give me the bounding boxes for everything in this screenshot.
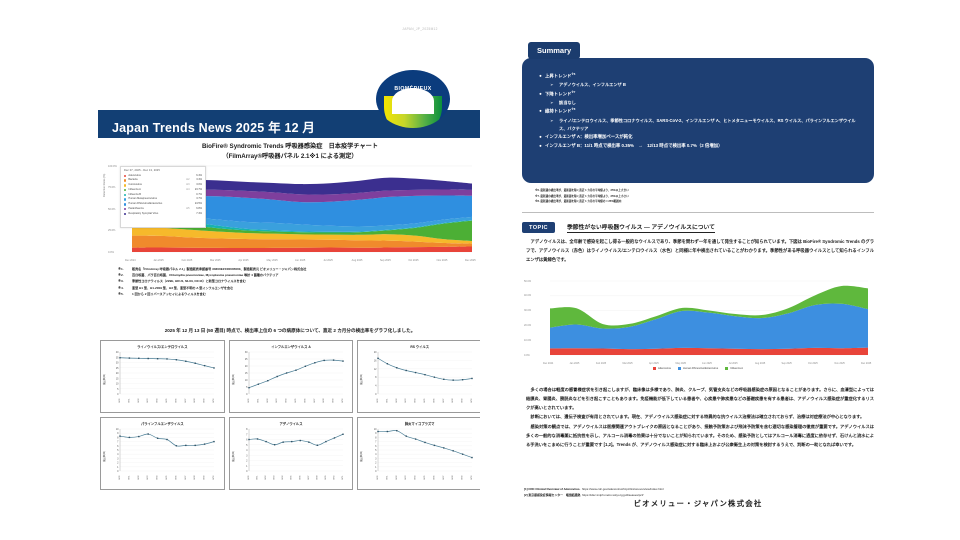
summary-bullet-icon: ● <box>536 133 545 142</box>
topic-xtick: Oct 2025 <box>808 362 818 365</box>
sub-note: 2025 年 12 月 13 日 (50 週目) 時点で、検出率上位の 6 つの… <box>98 328 482 334</box>
xtick: Feb 2025 <box>182 259 193 262</box>
svg-text:W43: W43 <box>276 398 278 403</box>
summary-item-text: アデノウイルス、インフルエンザ B <box>559 81 626 89</box>
svg-text:W48: W48 <box>452 475 454 480</box>
svg-text:W40: W40 <box>248 398 250 403</box>
mini-chart-plot: 051015202530W40W41W42W43W44W45W46W47W48W… <box>236 349 346 403</box>
ytick: 75.0% <box>108 186 115 189</box>
svg-text:W48: W48 <box>323 398 325 403</box>
svg-text:W42: W42 <box>138 475 140 480</box>
xtick: Sep 2025 <box>380 259 391 262</box>
mini-chart-panel-1: ライノウイルス/エンテロウイルス検出率(%)0510152025303540W4… <box>100 340 225 413</box>
xtick: Dec 2024 <box>125 259 136 262</box>
svg-text:W40: W40 <box>377 398 379 403</box>
svg-text:10: 10 <box>245 379 248 382</box>
svg-text:W40: W40 <box>119 475 121 480</box>
svg-text:W41: W41 <box>129 475 131 480</box>
svg-text:W43: W43 <box>148 475 150 480</box>
svg-text:W47: W47 <box>314 398 316 403</box>
topic-ytick: 20.0% <box>524 324 531 327</box>
summary-item: ➢ライノ/エンテロウイルス、季節性コロナウイルス、SARS-CoV-2、インフル… <box>536 117 860 134</box>
left-footnotes: ※1.販売名「FilmArray 呼吸器パネル 2.1」製造販売承認番号 303… <box>118 266 448 297</box>
svg-text:0: 0 <box>246 470 248 473</box>
svg-text:20: 20 <box>245 365 248 368</box>
legend-swatch <box>124 175 126 177</box>
legend-swatch <box>124 184 126 186</box>
mini-chart-plot: 012345678W40W41W42W43W44W45W46W47W48W49W… <box>236 426 346 480</box>
svg-text:W45: W45 <box>166 475 168 480</box>
page-title: Japan Trends News 2025 年 12 月 <box>112 117 315 136</box>
svg-text:5: 5 <box>117 388 119 391</box>
reference-url[interactable]: https://idsc.tmiph.metro.tokyo.lg.jp/dis… <box>582 493 643 497</box>
legend-value: 7.4% <box>193 212 202 217</box>
body-paragraph: 診断においては、遺伝子検査が有用とされています。現在、アデノウイルス感染症に対す… <box>526 413 874 422</box>
reference-url[interactable]: https://www.cdc.gov/adenovirus/hcp/clini… <box>582 487 664 491</box>
mini-chart-ylabel: 検出率(%) <box>102 374 106 385</box>
svg-text:W44: W44 <box>157 475 159 480</box>
summary-item: ➢該当なし <box>536 99 860 107</box>
references-list: [1] CDC Clinical Overview of Adenovirus.… <box>524 486 874 498</box>
svg-text:W48: W48 <box>195 475 197 480</box>
svg-text:W43: W43 <box>148 398 150 403</box>
svg-text:W43: W43 <box>274 475 276 480</box>
svg-text:40: 40 <box>116 351 119 354</box>
svg-text:W41: W41 <box>129 398 131 403</box>
svg-text:W48: W48 <box>195 398 197 403</box>
svg-text:0: 0 <box>375 393 377 396</box>
main-chart-title-line1: BioFire® Syndromic Trends 呼吸器感染症 日本疫学チャー… <box>98 142 482 152</box>
legend-label: Respiratory Syncytial Virus <box>128 212 186 217</box>
svg-text:W47: W47 <box>442 398 444 403</box>
svg-text:W41: W41 <box>257 475 259 480</box>
svg-text:6: 6 <box>117 445 119 448</box>
svg-text:4: 4 <box>375 453 377 456</box>
svg-text:W45: W45 <box>424 398 426 403</box>
summary-item-sup: ※8 <box>571 108 575 111</box>
svg-text:W42: W42 <box>138 398 140 403</box>
xtick: Aug 2025 <box>352 259 363 262</box>
svg-text:W46: W46 <box>176 398 178 403</box>
svg-text:5: 5 <box>117 449 119 452</box>
summary-item: ●下降トレンド※7 <box>536 90 860 99</box>
svg-text:6: 6 <box>375 445 377 448</box>
legend-swatch <box>124 213 126 215</box>
svg-text:W49: W49 <box>333 398 335 403</box>
svg-text:W49: W49 <box>325 475 327 480</box>
xtick: Nov 2025 <box>437 259 448 262</box>
legend-item: Respiratory Syncytial Virus7.4% <box>124 212 202 217</box>
mini-chart-ylabel: 検出率(%) <box>231 374 235 385</box>
summary-bullet-icon: ● <box>536 142 545 151</box>
svg-text:W47: W47 <box>308 475 310 480</box>
svg-text:W45: W45 <box>291 475 293 480</box>
svg-text:15: 15 <box>116 377 119 380</box>
summary-bullet-icon: ● <box>536 107 545 116</box>
svg-text:0: 0 <box>117 393 119 396</box>
summary-footnote: ※8. 最新週の検出率が、最新週を除く直近 1 カ月の平均値の ± 25%範囲内 <box>535 199 865 205</box>
topic-legend-item: Adenovirus <box>653 367 671 370</box>
xtick: Apr 2025 <box>238 259 248 262</box>
logo-wordmark: BIOMÉRIEUX <box>376 86 450 92</box>
svg-text:2: 2 <box>117 462 119 465</box>
svg-text:W44: W44 <box>414 475 416 480</box>
svg-text:20: 20 <box>373 351 376 354</box>
summary-bullet-icon: ● <box>536 90 545 99</box>
topic-legend-label: Adenovirus <box>658 367 671 370</box>
topic-xtick: Aug 2025 <box>755 362 765 365</box>
mini-chart-plot: 012345678910W40W41W42W43W44W45W46W47W48W… <box>107 426 217 480</box>
svg-text:W50: W50 <box>333 475 335 480</box>
topic-legend-label: Human Rhinovirus/Enterovirus <box>683 367 718 370</box>
svg-text:1: 1 <box>246 465 248 468</box>
xtick: Oct 2025 <box>408 259 418 262</box>
svg-text:W47: W47 <box>185 475 187 480</box>
svg-text:W49: W49 <box>204 475 206 480</box>
summary-item: ●上昇トレンド※6 <box>536 72 860 81</box>
svg-text:W42: W42 <box>265 475 267 480</box>
svg-text:W40: W40 <box>248 475 250 480</box>
topic-legend-item: Influenza A <box>725 367 743 370</box>
svg-text:7: 7 <box>375 441 377 444</box>
svg-text:25: 25 <box>245 358 248 361</box>
svg-text:W40: W40 <box>377 475 379 480</box>
left-page: JAPAN_JP_2025M12 BIOMÉRIEUX Japan Trends… <box>0 0 480 540</box>
svg-text:5: 5 <box>375 449 377 452</box>
legend-swatch <box>124 194 126 196</box>
topic-chart-plot <box>524 278 872 362</box>
watermark-left: JAPAN_JP_2025M12 <box>360 27 480 31</box>
topic-ytick: 40.0% <box>524 294 531 297</box>
footnote-number: ※5. <box>118 291 132 297</box>
svg-text:30: 30 <box>245 351 248 354</box>
svg-text:W47: W47 <box>442 475 444 480</box>
legend-swatch <box>124 189 126 191</box>
topic-chart-legend: AdenovirusHuman Rhinovirus/EnterovirusIn… <box>524 367 872 370</box>
ytick: 50.0% <box>108 208 115 211</box>
svg-text:W43: W43 <box>405 475 407 480</box>
topic-xtick: Jul 2025 <box>729 362 738 365</box>
svg-text:3: 3 <box>117 457 119 460</box>
svg-text:8: 8 <box>375 436 377 439</box>
mini-chart-panel-4: パラインフルエンザウイルス検出率(%)012345678910W40W41W42… <box>100 417 225 490</box>
svg-text:W41: W41 <box>386 475 388 480</box>
legend-swatch <box>124 179 126 181</box>
topic-xtick: Dec 2024 <box>543 362 553 365</box>
topic-header-row: TOPIC 季節性がない呼吸器ウイルス ― アデノウイルスについて <box>522 222 715 233</box>
biomerieux-logo: BIOMÉRIEUX <box>376 70 456 128</box>
svg-text:W46: W46 <box>433 398 435 403</box>
body-paragraph: 多くの場合は軽度の感冒様症状を引き起こしますが、臨床像は多様であり、肺炎、クルー… <box>526 386 874 412</box>
topic-stacked-area-chart: 0.0%10.0%20.0%30.0%40.0%50.0% Dec 2024Ja… <box>524 278 872 376</box>
svg-text:5: 5 <box>246 386 248 389</box>
company-name: ビオメリュー・ジャパン株式会社 <box>522 498 874 509</box>
summary-item-text: 下降トレンド※7 <box>545 90 575 99</box>
topic-legend-label: Influenza A <box>730 367 743 370</box>
svg-text:W48: W48 <box>316 475 318 480</box>
svg-text:W49: W49 <box>461 475 463 480</box>
footnote-text: 1 回から 2 回リバースアッセイによるウイルスを含む <box>132 291 206 297</box>
topic-legend-swatch <box>653 367 656 370</box>
svg-text:4: 4 <box>117 453 119 456</box>
svg-text:W50: W50 <box>471 475 473 480</box>
mini-chart-panel-6: 肺炎マイコプラズマ検出率(%)012345678910W40W41W42W43W… <box>357 417 482 490</box>
xtick: Jun 2025 <box>295 259 305 262</box>
xtick: Jul 2025 <box>323 259 332 262</box>
legend-note: ※4 <box>186 188 193 193</box>
svg-text:W47: W47 <box>185 398 187 403</box>
svg-text:W46: W46 <box>433 475 435 480</box>
xtick: Jan 2025 <box>153 259 163 262</box>
summary-item-text: 上昇トレンド※6 <box>545 72 575 81</box>
ytick: 100.0% <box>108 165 117 168</box>
logo-circle <box>376 70 450 128</box>
summary-item-sup: ※7 <box>571 91 575 94</box>
svg-text:3: 3 <box>246 454 248 457</box>
svg-text:6: 6 <box>246 439 248 442</box>
legend-note: ※5 <box>186 207 193 212</box>
summary-bullet-icon: ➢ <box>550 81 559 89</box>
mini-chart-ylabel: 検出率(%) <box>359 374 363 385</box>
mini-chart-plot: 0510152025303540W40W41W42W43W44W45W46W47… <box>107 349 217 403</box>
summary-bullet-icon: ● <box>536 72 545 81</box>
topic-xtick: Sep 2025 <box>782 362 792 365</box>
topic-xtick: Mar 2025 <box>623 362 633 365</box>
svg-text:W42: W42 <box>395 398 397 403</box>
ytick: 25.0% <box>108 229 115 232</box>
mini-chart-ylabel: 検出率(%) <box>359 451 363 462</box>
topic-xtick: May 2025 <box>676 362 687 365</box>
mini-chart-plot: 048121620W40W41W42W43W44W45W46W47W48W49W… <box>365 349 475 403</box>
svg-text:16: 16 <box>373 359 376 362</box>
legend-swatch <box>124 198 126 200</box>
svg-text:W50: W50 <box>342 398 344 403</box>
svg-text:2: 2 <box>246 460 248 463</box>
svg-text:W46: W46 <box>304 398 306 403</box>
svg-text:8: 8 <box>117 436 119 439</box>
main-chart-title-line2: （FilmArray®呼吸器パネル 2.1※1 による測定） <box>98 152 482 162</box>
svg-text:1: 1 <box>375 466 377 469</box>
summary-bullet-icon: ➢ <box>550 99 559 107</box>
topic-xtick: Dec 2025 <box>861 362 871 365</box>
topic-xtick: Jun 2025 <box>702 362 712 365</box>
six-panel-chart-grid: ライノウイルス/エンテロウイルス検出率(%)0510152025303540W4… <box>100 340 482 490</box>
svg-text:W51: W51 <box>342 475 344 480</box>
svg-text:W45: W45 <box>424 475 426 480</box>
svg-text:W40: W40 <box>119 398 121 403</box>
svg-text:10: 10 <box>116 383 119 386</box>
svg-text:0: 0 <box>375 470 377 473</box>
svg-text:W46: W46 <box>176 475 178 480</box>
summary-item-text: インフルエンザ A：検出率増加ペースが鈍化 <box>545 133 632 142</box>
svg-text:W41: W41 <box>257 398 259 403</box>
svg-text:3: 3 <box>375 457 377 460</box>
svg-text:5: 5 <box>246 444 248 447</box>
svg-text:7: 7 <box>246 433 248 436</box>
summary-item: ●インフルエンザ B：11/1 時点で検出率 0.35% → 12/13 時点で… <box>536 142 860 151</box>
topic-xtick: Jan 2025 <box>570 362 580 365</box>
svg-text:30: 30 <box>116 362 119 365</box>
topic-area-series-adenovirus <box>550 348 868 355</box>
svg-text:35: 35 <box>116 356 119 359</box>
svg-text:2: 2 <box>375 462 377 465</box>
summary-item-text: インフルエンザ B：11/1 時点で検出率 0.35% → 12/13 時点で検… <box>545 142 723 151</box>
svg-text:10: 10 <box>116 428 119 431</box>
summary-item-text: ライノ/エンテロウイルス、季節性コロナウイルス、SARS-CoV-2、インフルエ… <box>559 117 860 134</box>
reference-label: 東京都感染症情報センター 咽頭結膜熱 <box>528 493 580 497</box>
svg-text:15: 15 <box>245 372 248 375</box>
main-chart-title: BioFire® Syndromic Trends 呼吸器感染症 日本疫学チャー… <box>98 142 482 161</box>
xtick: Mar 2025 <box>210 259 221 262</box>
topic-ytick: 0.0% <box>524 354 530 357</box>
reference-label: CDC Clinical Overview of Adenovirus. <box>528 487 580 491</box>
summary-item-sup: ※6 <box>571 73 575 76</box>
svg-text:W42: W42 <box>395 475 397 480</box>
svg-text:0: 0 <box>246 393 248 396</box>
ytick: 0.0% <box>108 251 114 254</box>
summary-tab: Summary <box>528 42 580 59</box>
svg-text:W50: W50 <box>471 398 473 403</box>
summary-item-text: 維持トレンド※8 <box>545 107 575 116</box>
svg-text:10: 10 <box>373 428 376 431</box>
mini-chart-panel-2: インフルエンザウイルス A検出率(%)051015202530W40W41W42… <box>229 340 354 413</box>
footnote-row: ※5.1 回から 2 回リバースアッセイによるウイルスを含む <box>118 291 448 297</box>
topic-heading: 季節性がない呼吸器ウイルス ― アデノウイルスについて <box>567 222 715 233</box>
summary-footnotes: ※6. 最新週の検出率が、最新週を除く直近 1 カ月の平均値より、25%以上大き… <box>535 188 865 205</box>
mini-chart-panel-5: アデノウイルス検出率(%)012345678W40W41W42W43W44W45… <box>229 417 354 490</box>
svg-text:12: 12 <box>373 368 376 371</box>
topic-ytick: 10.0% <box>524 339 531 342</box>
summary-item-text: 該当なし <box>559 99 576 107</box>
reference-number: [2] <box>524 493 528 497</box>
summary-item: ●維持トレンド※8 <box>536 107 860 116</box>
xtick: May 2025 <box>267 259 278 262</box>
legend-date-range: Dec 07, 2025 - Dec 13, 2025 <box>124 169 202 172</box>
topic-ytick: 50.0% <box>524 280 531 283</box>
summary-bullet-icon: ➢ <box>550 117 559 134</box>
topic-ytick: 30.0% <box>524 309 531 312</box>
svg-text:W44: W44 <box>157 398 159 403</box>
summary-box: ●上昇トレンド※6➢アデノウイルス、インフルエンザ B●下降トレンド※7➢該当な… <box>522 58 874 183</box>
topic-tag: TOPIC <box>522 222 555 233</box>
topic-xtick: Nov 2025 <box>835 362 845 365</box>
svg-text:W45: W45 <box>295 398 297 403</box>
svg-text:W49: W49 <box>461 398 463 403</box>
svg-text:9: 9 <box>117 432 119 435</box>
mini-chart-plot: 012345678910W40W41W42W43W44W45W46W47W48W… <box>365 426 475 480</box>
svg-text:W48: W48 <box>452 398 454 403</box>
topic-xtick: Feb 2025 <box>596 362 606 365</box>
svg-text:W42: W42 <box>267 398 269 403</box>
svg-text:W50: W50 <box>213 475 215 480</box>
svg-text:4: 4 <box>246 449 248 452</box>
svg-text:W50: W50 <box>213 398 215 403</box>
main-stacked-area-chart: Detection Rates (%) 0.0%25.0%50.0%75.0%1… <box>104 163 476 265</box>
svg-text:W41: W41 <box>386 398 388 403</box>
body-paragraph: 感染対策の観点では、アデノウイルスは医療関連アウトブレイクの原因となることがあり… <box>526 423 874 449</box>
summary-item: ➢アデノウイルス、インフルエンザ B <box>536 81 860 89</box>
topic-paragraph-text: アデノウイルスは、全年齢で感染を起こし得る一般的なウイルスであり、季節を問わず一… <box>526 238 874 264</box>
topic-xtick: Apr 2025 <box>649 362 659 365</box>
mini-chart-panel-3: RS ウイルス検出率(%)048121620W40W41W42W43W44W45… <box>357 340 482 413</box>
reference-number: [1] <box>524 487 528 491</box>
topic-legend-swatch <box>725 367 728 370</box>
svg-text:W44: W44 <box>414 398 416 403</box>
svg-text:7: 7 <box>117 441 119 444</box>
svg-text:9: 9 <box>375 432 377 435</box>
svg-text:8: 8 <box>375 376 377 379</box>
mini-chart-ylabel: 検出率(%) <box>102 451 106 462</box>
svg-text:8: 8 <box>246 428 248 431</box>
body-paragraphs: 多くの場合は軽度の感冒様症状を引き起こしますが、臨床像は多様であり、肺炎、クルー… <box>526 386 874 451</box>
svg-text:20: 20 <box>116 372 119 375</box>
svg-text:W43: W43 <box>405 398 407 403</box>
divider-rule <box>522 212 874 213</box>
main-chart-legend: Dec 07, 2025 - Dec 13, 2025 Adenovirus6.… <box>120 166 206 228</box>
svg-text:W46: W46 <box>299 475 301 480</box>
topic-legend-item: Human Rhinovirus/Enterovirus <box>678 367 718 370</box>
svg-text:4: 4 <box>375 385 377 388</box>
svg-text:W44: W44 <box>282 475 284 480</box>
main-chart-ylabel: Detection Rates (%) <box>103 174 106 197</box>
legend-swatch <box>124 208 126 210</box>
topic-legend-swatch <box>678 367 681 370</box>
svg-text:1: 1 <box>117 466 119 469</box>
svg-text:W44: W44 <box>286 398 288 403</box>
svg-text:25: 25 <box>116 367 119 370</box>
svg-text:0: 0 <box>117 470 119 473</box>
legend-swatch <box>124 203 126 205</box>
summary-item: ●インフルエンザ A：検出率増加ペースが鈍化 <box>536 133 860 142</box>
topic-paragraph: アデノウイルスは、全年齢で感染を起こし得る一般的なウイルスであり、季節を問わず一… <box>526 238 874 264</box>
mini-chart-ylabel: 検出率(%) <box>231 451 235 462</box>
xtick: Dec 2025 <box>465 259 476 262</box>
svg-text:W49: W49 <box>204 398 206 403</box>
svg-text:W45: W45 <box>166 398 168 403</box>
